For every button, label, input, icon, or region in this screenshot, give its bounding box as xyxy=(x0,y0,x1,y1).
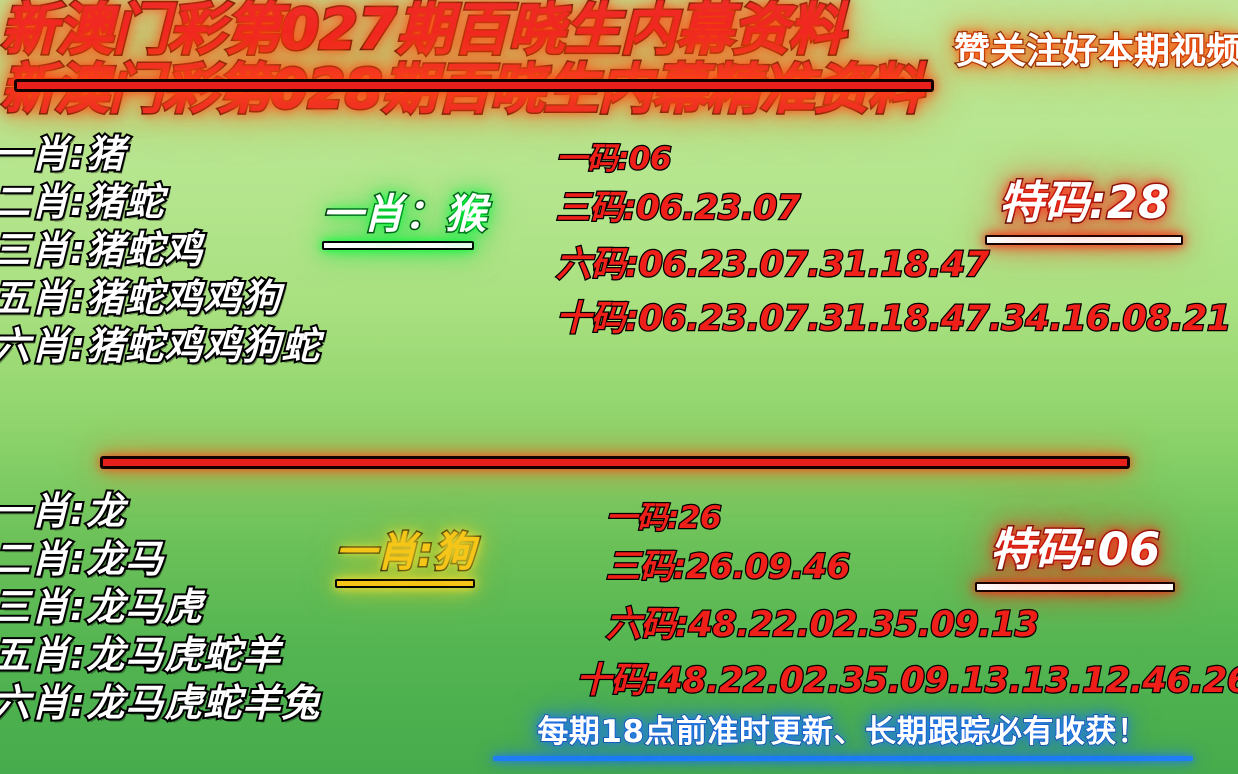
special-code-label: 特码:28 xyxy=(985,176,1183,230)
section1-single-zodiac-pick: 一肖：猴 xyxy=(322,190,486,250)
lottery-poster: 新澳门彩第027期百晓生内幕资料 赞关注好本期视频 一肖:猪 二肖:猪蛇 三肖:… xyxy=(0,0,1238,774)
code-line-ten: 十码:06.23.07.31.18.47.34.16.08.21 xyxy=(556,292,1231,346)
pick-label: 一肖:狗 xyxy=(335,528,475,576)
section2-zodiac-list: 一肖:龙 二肖:龙马 三肖:龙马虎 五肖:龙马虎蛇羊 六肖:龙马虎蛇羊兔 xyxy=(0,487,320,727)
pick-underline xyxy=(322,241,474,250)
special-code-underline xyxy=(985,235,1183,245)
zodiac-line: 五肖:猪蛇鸡鸡狗 xyxy=(0,274,320,322)
zodiac-line: 二肖:龙马 xyxy=(0,535,320,583)
code-line-six: 六码:48.22.02.35.09.13 xyxy=(606,597,1238,653)
code-line-ten: 十码:48.22.02.35.09.13.13.12.46.26.03 xyxy=(576,653,1238,709)
section1-zodiac-list: 一肖:猪 二肖:猪蛇 三肖:猪蛇鸡 五肖:猪蛇鸡鸡狗 六肖:猪蛇鸡鸡狗蛇 xyxy=(0,130,320,370)
zodiac-line: 六肖:猪蛇鸡鸡狗蛇 xyxy=(0,322,320,370)
section2-special-code: 特码:06 xyxy=(975,523,1175,592)
pick-underline xyxy=(335,579,475,588)
zodiac-line: 六肖:龙马虎蛇羊兔 xyxy=(0,679,320,727)
zodiac-line: 五肖:龙马虎蛇羊 xyxy=(0,631,320,679)
zodiac-line: 三肖:猪蛇鸡 xyxy=(0,226,320,274)
zodiac-line: 二肖:猪蛇 xyxy=(0,178,320,226)
section2-title-underline xyxy=(100,456,1130,469)
code-line-six: 六码:06.23.07.31.18.47 xyxy=(556,238,1231,292)
zodiac-line: 三肖:龙马虎 xyxy=(0,583,320,631)
section1-special-code: 特码:28 xyxy=(985,176,1183,245)
follow-video-note: 赞关注好本期视频 xyxy=(954,30,1238,74)
footer-update-notice: 每期18点前准时更新、长期跟踪必有收获！ xyxy=(493,712,1193,752)
zodiac-line: 一肖:龙 xyxy=(0,487,320,535)
special-code-label: 特码:06 xyxy=(975,523,1175,577)
footer-underline xyxy=(493,756,1193,761)
special-code-underline xyxy=(975,582,1175,592)
section1-title-underline xyxy=(14,79,934,92)
pick-label: 一肖：猴 xyxy=(322,190,486,238)
zodiac-line: 一肖:猪 xyxy=(0,130,320,178)
footer-banner: 每期18点前准时更新、长期跟踪必有收获！ xyxy=(493,712,1193,761)
section2-single-zodiac-pick: 一肖:狗 xyxy=(335,528,475,588)
